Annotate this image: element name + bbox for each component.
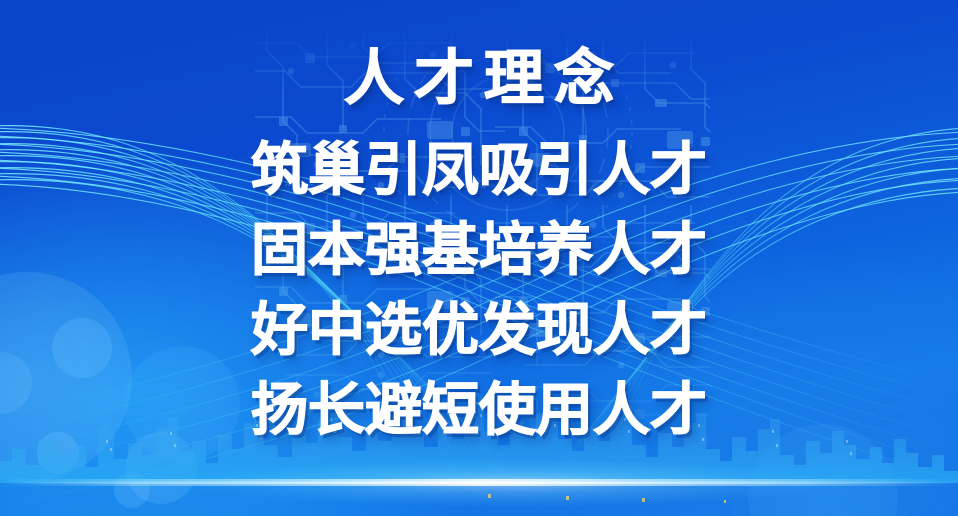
slogan-line-1: 筑巢引凤吸引人才	[251, 135, 707, 205]
page-title: 人才理念	[334, 49, 624, 109]
slogan-line-4: 扬长避短使用人才	[251, 375, 707, 445]
text-content: 人才理念 筑巢引凤吸引人才 固本强基培养人才 好中选优发现人才 扬长避短使用人才	[0, 0, 958, 516]
poster-canvas: 人才理念 筑巢引凤吸引人才 固本强基培养人才 好中选优发现人才 扬长避短使用人才	[0, 0, 958, 516]
slogan-line-2: 固本强基培养人才	[251, 215, 707, 285]
slogan-line-3: 好中选优发现人才	[251, 295, 707, 365]
slogan-list: 筑巢引凤吸引人才 固本强基培养人才 好中选优发现人才 扬长避短使用人才	[251, 135, 707, 445]
